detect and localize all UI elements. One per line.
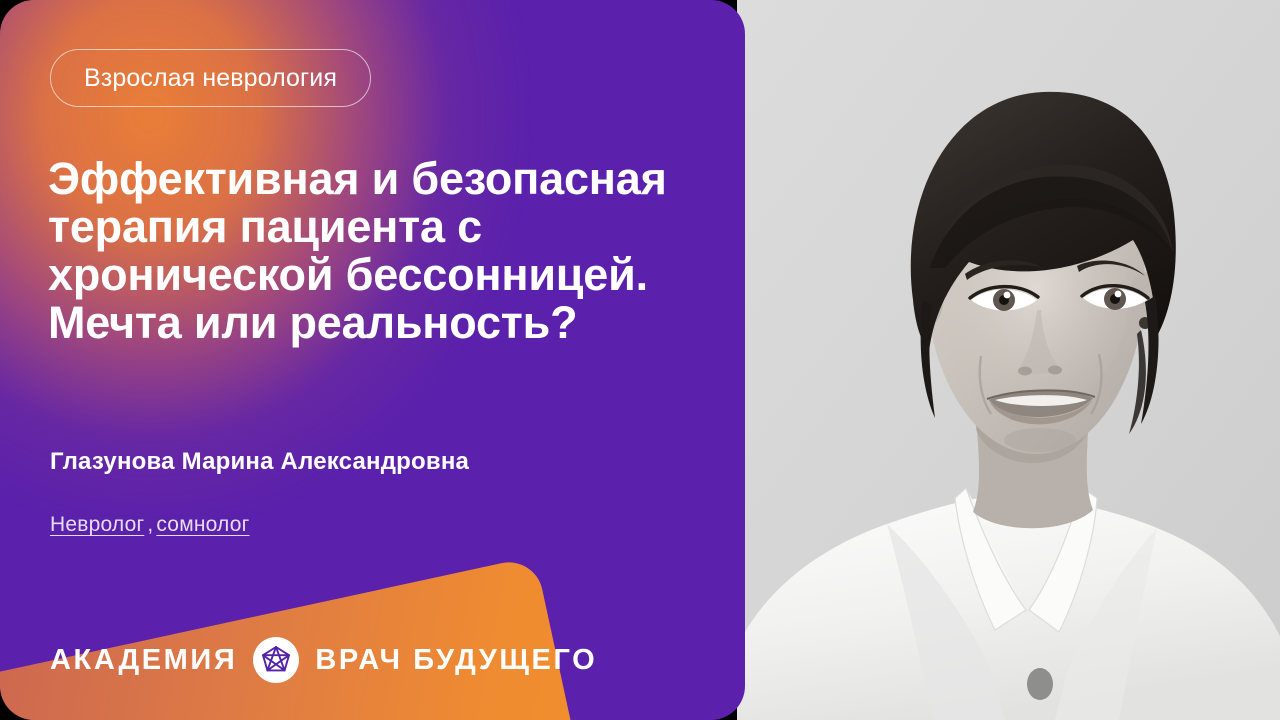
speaker-role-link-1[interactable]: Невролог (50, 513, 144, 536)
category-badge-label: Взрослая неврология (84, 64, 337, 93)
page-title: Эффективная и безопасная терапия пациент… (48, 155, 688, 347)
speaker-roles: Невролог,сомнолог (50, 513, 249, 537)
brand-word-left: АКАДЕМИЯ (50, 644, 237, 677)
speaker-photo-pane (737, 0, 1280, 720)
pentagon-gem-icon (253, 637, 299, 683)
webinar-cover-slide: Взрослая неврология Эффективная и безопа… (0, 0, 1280, 720)
purple-card: Взрослая неврология Эффективная и безопа… (0, 0, 745, 720)
brand-word-right: ВРАЧ БУДУЩЕГО (315, 644, 597, 677)
category-badge[interactable]: Взрослая неврология (50, 49, 371, 107)
speaker-role-link-2[interactable]: сомнолог (156, 513, 249, 536)
speaker-role-separator: , (144, 513, 156, 537)
speaker-name: Глазунова Марина Александровна (50, 448, 469, 476)
speaker-portrait (737, 0, 1280, 720)
brand-lockup: АКАДЕМИЯ ВРАЧ БУДУЩЕГО (50, 637, 597, 683)
